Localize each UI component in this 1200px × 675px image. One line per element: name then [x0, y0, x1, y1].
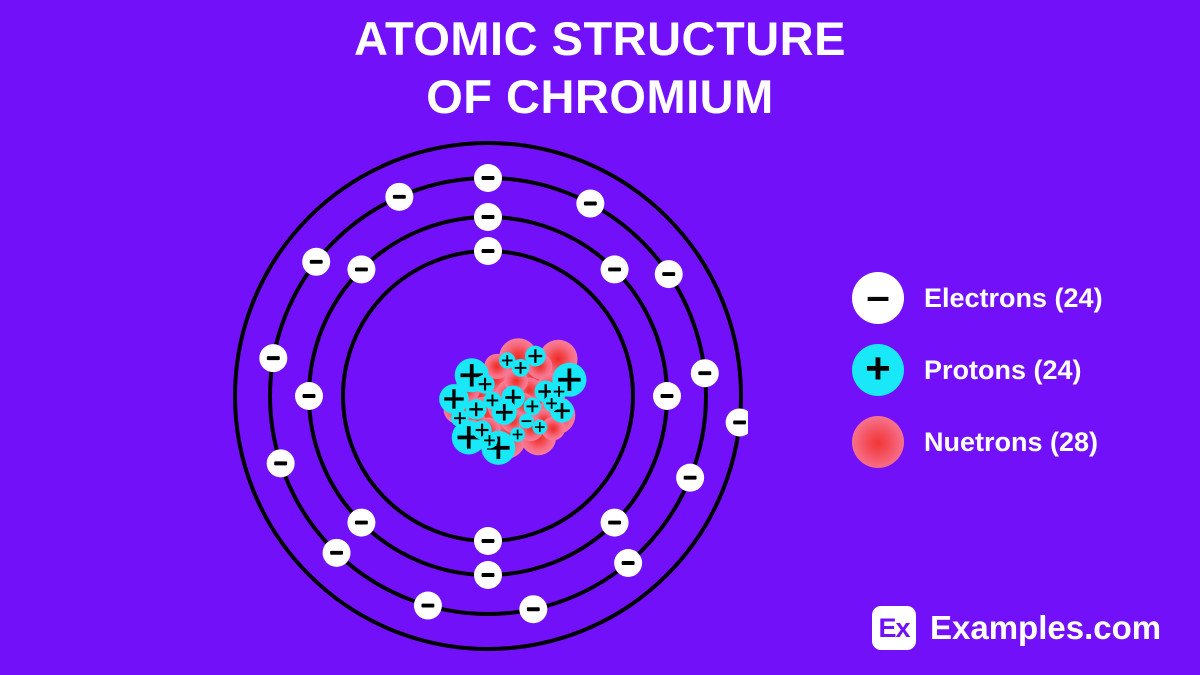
- atom-diagram: [228, 128, 748, 663]
- legend-label-neutrons: Nuetrons (28): [924, 427, 1098, 458]
- brand-logo[interactable]: Ex Examples.com: [872, 606, 1161, 650]
- electron-shell3-2: [576, 190, 604, 218]
- proton-24: [510, 427, 525, 442]
- electron-shell3-9: [323, 539, 351, 567]
- electron-shell4-1: [726, 408, 748, 436]
- legend-item-electrons: – Electrons (24): [852, 262, 1152, 334]
- legend-label-electrons: Electrons (24): [924, 283, 1103, 314]
- electron-shell2-4: [601, 509, 629, 537]
- electron-shell2-7: [295, 382, 323, 410]
- proton-17: [524, 397, 542, 415]
- title-line-2: OF CHROMIUM: [0, 68, 1200, 126]
- electron-shell3-5: [676, 464, 704, 492]
- electron-shell2-1: [474, 203, 502, 231]
- proton-16: [484, 392, 502, 410]
- neutron-circle-icon: [852, 416, 904, 468]
- proton-22: [551, 383, 567, 399]
- electron-shell3-10: [267, 449, 295, 477]
- minus-sign-icon: –: [852, 268, 904, 324]
- legend-item-protons: + Protons (24): [852, 334, 1152, 406]
- proton-19: [451, 409, 469, 427]
- proton-14: [519, 414, 534, 429]
- legend: – Electrons (24) + Protons (24) Nuetrons…: [852, 262, 1152, 478]
- electron-shell1-1: [474, 237, 502, 265]
- electron-shell3-8: [414, 592, 442, 620]
- proton-8: [466, 399, 487, 420]
- page-title: ATOMIC STRUCTURE OF CHROMIUM: [0, 10, 1200, 126]
- title-line-1: ATOMIC STRUCTURE: [0, 10, 1200, 68]
- electron-shell2-3: [653, 382, 681, 410]
- electron-shell3-12: [302, 248, 330, 276]
- electron-shell3-13: [385, 183, 413, 211]
- proton-20: [499, 352, 515, 368]
- electron-shell3-7: [519, 595, 547, 623]
- electron-shell3-1: [474, 164, 502, 192]
- electron-shell1-2: [474, 527, 502, 555]
- electron-shell3-4: [691, 359, 719, 387]
- electron-shell2-6: [347, 509, 375, 537]
- electron-shell3-11: [259, 344, 287, 372]
- atom-svg: [228, 128, 748, 663]
- proton-21: [532, 420, 547, 435]
- proton-4: [439, 384, 469, 414]
- electron-shell2-2: [601, 255, 629, 283]
- legend-item-neutrons: Nuetrons (28): [852, 406, 1152, 478]
- examples-mark-icon: Ex: [872, 606, 916, 650]
- proton-5: [475, 375, 494, 394]
- electron-shell3-3: [655, 260, 683, 288]
- proton-circle-icon: +: [852, 344, 904, 396]
- electron-shell3-6: [614, 549, 642, 577]
- electron-shell2-5: [474, 561, 502, 589]
- electron-shell2-8: [347, 255, 375, 283]
- plus-sign-icon: +: [852, 341, 904, 396]
- atomic-structure-infographic: ATOMIC STRUCTURE OF CHROMIUM – Electrons: [0, 0, 1200, 675]
- electron-circle-icon: –: [852, 272, 904, 324]
- proton-23: [481, 432, 497, 448]
- legend-label-protons: Protons (24): [924, 355, 1082, 386]
- nucleus: [439, 338, 586, 465]
- brand-name: Examples.com: [930, 609, 1161, 647]
